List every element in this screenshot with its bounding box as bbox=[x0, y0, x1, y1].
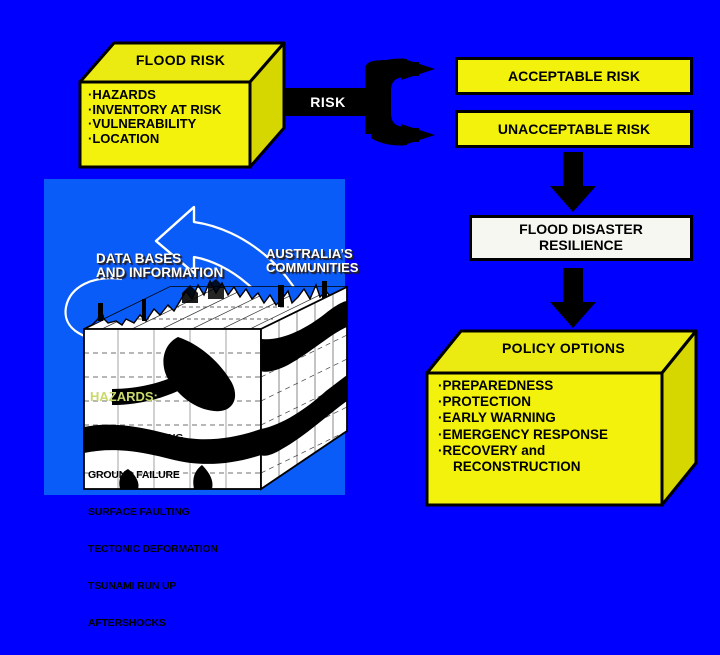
hazards-list-item: GROUND SHAKING bbox=[88, 432, 218, 444]
unacceptable-risk-label: UNACCEPTABLE RISK bbox=[498, 121, 650, 137]
flood-risk-title: FLOOD RISK bbox=[98, 52, 263, 68]
risk-label: RISK bbox=[288, 88, 368, 116]
hazards-list-item: GROUND FAILURE bbox=[88, 469, 218, 481]
flood-risk-bullets: ·HAZARDS ·INVENTORY AT RISK ·VULNERABILI… bbox=[88, 88, 253, 146]
down-arrow-icon bbox=[548, 268, 598, 330]
policy-bullet: ·RECOVERY and bbox=[438, 443, 663, 459]
slide-canvas: DATA BASES AND INFORMATION AUSTRALIA’S C… bbox=[0, 0, 720, 540]
hazards-list: GROUND SHAKING GROUND FAILURE SURFACE FA… bbox=[88, 407, 218, 655]
policy-bullet: RECONSTRUCTION bbox=[438, 459, 663, 475]
policy-bullet: ·EMERGENCY RESPONSE bbox=[438, 427, 663, 443]
hazards-list-item: TSUNAMI RUN UP bbox=[88, 580, 218, 592]
policy-bullet: ·PREPAREDNESS bbox=[438, 378, 663, 394]
label-databases-and-information: DATA BASES AND INFORMATION bbox=[96, 252, 223, 280]
acceptable-risk-box[interactable]: ACCEPTABLE RISK bbox=[455, 57, 693, 95]
label-australias-communities: AUSTRALIA’S COMMUNITIES bbox=[266, 247, 358, 274]
risk-label-text: RISK bbox=[310, 94, 345, 110]
hazards-list-item: TECTONIC DEFORMATION bbox=[88, 543, 218, 555]
hazards-list-item: AFTERSHOCKS bbox=[88, 617, 218, 629]
flood-risk-bullet: ·LOCATION bbox=[88, 132, 253, 147]
policy-bullet: ·PROTECTION bbox=[438, 394, 663, 410]
acceptable-risk-label: ACCEPTABLE RISK bbox=[508, 68, 640, 84]
resilience-line-2: RESILIENCE bbox=[519, 238, 643, 254]
down-arrow-icon bbox=[548, 152, 598, 214]
hazards-list-item: SURFACE FAULTING bbox=[88, 506, 218, 518]
flood-risk-bullet: ·HAZARDS bbox=[88, 88, 253, 103]
flood-risk-bullet: ·VULNERABILITY bbox=[88, 117, 253, 132]
flood-risk-bullet: ·INVENTORY AT RISK bbox=[88, 103, 253, 118]
resilience-line-1: FLOOD DISASTER bbox=[519, 222, 643, 238]
flood-risk-box[interactable]: FLOOD RISK ·HAZARDS ·INVENTORY AT RISK ·… bbox=[78, 40, 288, 170]
policy-bullet: ·EARLY WARNING bbox=[438, 410, 663, 426]
hazards-heading: HAZARDS: bbox=[90, 389, 158, 404]
unacceptable-risk-box[interactable]: UNACCEPTABLE RISK bbox=[455, 110, 693, 148]
policy-options-title: POLICY OPTIONS bbox=[466, 340, 661, 356]
flood-disaster-resilience-box[interactable]: FLOOD DISASTER RESILIENCE bbox=[469, 215, 693, 261]
policy-options-box[interactable]: POLICY OPTIONS ·PREPAREDNESS ·PROTECTION… bbox=[424, 328, 700, 508]
policy-options-bullets: ·PREPAREDNESS ·PROTECTION ·EARLY WARNING… bbox=[438, 378, 663, 475]
illustration-panel: DATA BASES AND INFORMATION AUSTRALIA’S C… bbox=[44, 179, 345, 495]
